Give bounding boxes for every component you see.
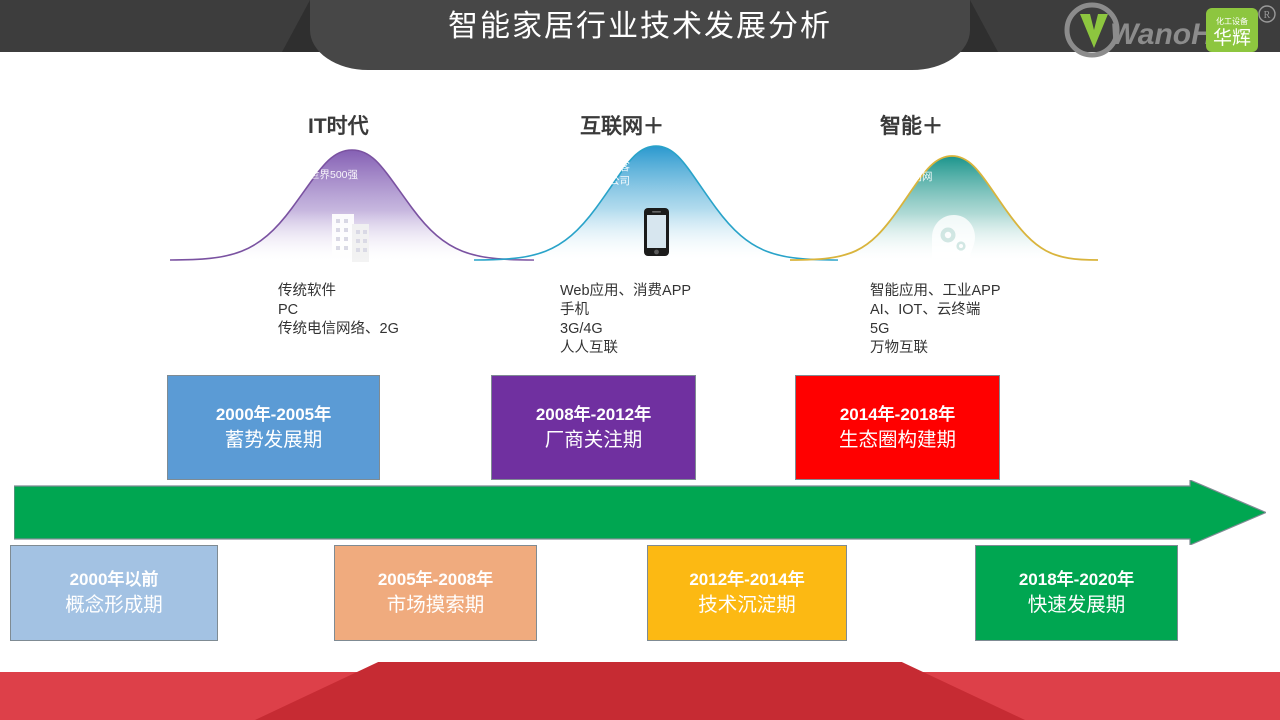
era-body-line: 传统软件 — [278, 282, 399, 301]
logo-wordmark: WanoHi — [1110, 18, 1222, 51]
era-title-it: IT时代 — [308, 110, 369, 140]
technology-wave-chart: IT时代 互联网＋ 智能＋ 世界500强 技术极客 创业公司 智能协同网 传统软… — [0, 78, 1280, 368]
timeline-arrow-svg — [14, 480, 1266, 545]
timeline-box-2018-2020[interactable]: 2018年-2020年 快速发展期 — [975, 545, 1178, 641]
era-body-line: Web应用、消费APP — [560, 282, 691, 301]
timeline-phase: 市场摸索期 — [387, 593, 485, 619]
timeline-phase: 技术沉淀期 — [698, 593, 796, 619]
era-title-internet-plus: 互联网＋ — [580, 110, 664, 140]
peak-label-internet-plus: 技术极客 创业公司 — [588, 160, 630, 188]
timeline-period: 2005年-2008年 — [378, 567, 493, 593]
logo-badge-subtext: 化工设备 — [1216, 16, 1248, 26]
timeline-phase: 概念形成期 — [65, 593, 163, 619]
registered-mark-letter: R — [1264, 10, 1271, 21]
timeline-period: 2012年-2014年 — [689, 567, 804, 593]
era-body-line: 3G/4G — [560, 320, 691, 339]
ai-brain-gear-icon — [932, 215, 975, 258]
timeline-period: 2014年-2018年 — [840, 402, 955, 428]
peak-label-internet-line1: 技术极客 — [588, 160, 630, 174]
timeline-period: 2000年以前 — [70, 567, 159, 593]
era-body-line: PC — [278, 301, 399, 320]
era-body-line: 智能应用、工业APP — [870, 282, 1001, 301]
slide-canvas: 智能家居行业技术发展分析 WanoHi 化工设备 华辉 R — [0, 0, 1280, 720]
timeline-period: 2000年-2005年 — [216, 402, 331, 428]
footer-accent-shape — [255, 662, 1025, 720]
timeline-box-2005-2008[interactable]: 2005年-2008年 市场摸索期 — [334, 545, 537, 641]
timeline-box-2012-2014[interactable]: 2012年-2014年 技术沉淀期 — [647, 545, 847, 641]
smartphone-icon — [644, 208, 669, 256]
era-body-line: 万物互联 — [870, 339, 1001, 358]
era-body-line: 手机 — [560, 301, 691, 320]
era-body-line: 人人互联 — [560, 339, 691, 358]
peak-label-intelligence: 智能协同网 — [880, 170, 933, 184]
era-body-line: 5G — [870, 320, 1001, 339]
arrow-shape — [14, 480, 1266, 545]
timeline-period: 2018年-2020年 — [1019, 567, 1134, 593]
era-body-internet-plus: Web应用、消费APP 手机 3G/4G 人人互联 — [560, 282, 691, 358]
timeline-phase: 蓄势发展期 — [225, 428, 323, 454]
timeline-box-2000-2005[interactable]: 2000年-2005年 蓄势发展期 — [167, 375, 380, 480]
peak-label-it: 世界500强 — [309, 168, 358, 182]
brand-logo[interactable]: WanoHi 化工设备 华辉 R — [1048, 0, 1276, 62]
era-body-intelligence-plus: 智能应用、工业APP AI、IOT、云终端 5G 万物互联 — [870, 282, 1001, 358]
timeline-phase: 快速发展期 — [1028, 593, 1126, 619]
logo-svg: WanoHi 化工设备 华辉 R — [1048, 0, 1276, 62]
timeline-phase: 生态圈构建期 — [839, 428, 956, 454]
peak-label-internet-line2: 创业公司 — [588, 174, 630, 188]
timeline-box-2014-2018[interactable]: 2014年-2018年 生态圈构建期 — [795, 375, 1000, 480]
timeline-arrow — [14, 480, 1266, 545]
era-body-line: 传统电信网络、2G — [278, 320, 399, 339]
timeline-phase: 厂商关注期 — [545, 428, 643, 454]
era-body-line: AI、IOT、云终端 — [870, 301, 1001, 320]
timeline-box-2008-2012[interactable]: 2008年-2012年 厂商关注期 — [491, 375, 696, 480]
era-title-intelligence-plus: 智能＋ — [880, 110, 943, 140]
timeline-period: 2008年-2012年 — [536, 402, 651, 428]
logo-badge-text: 华辉 — [1213, 27, 1251, 49]
timeline-box-pre-2000[interactable]: 2000年以前 概念形成期 — [10, 545, 218, 641]
era-body-it: 传统软件 PC 传统电信网络、2G — [278, 282, 399, 339]
